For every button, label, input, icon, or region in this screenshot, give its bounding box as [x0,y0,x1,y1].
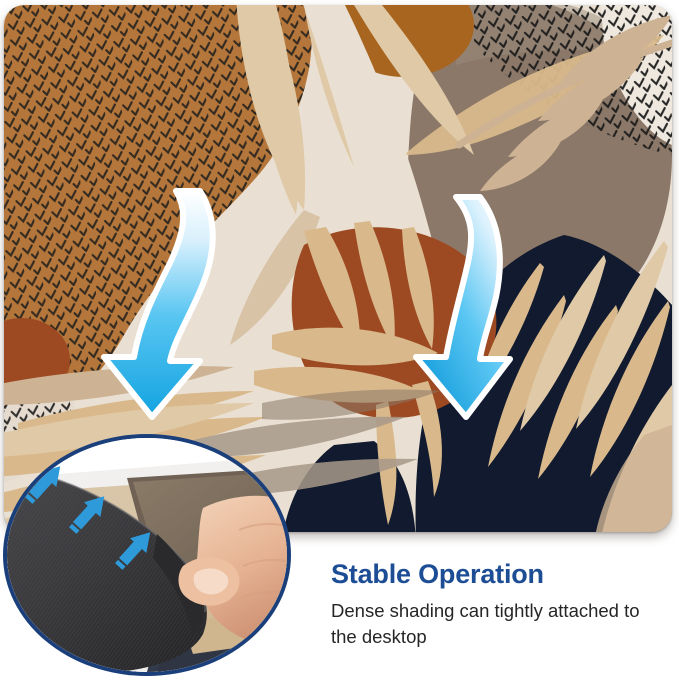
inset-photo [7,438,287,672]
caption-block: Stable Operation Dense shading can tight… [331,560,661,650]
product-image-canvas: Stable Operation Dense shading can tight… [0,0,679,680]
anti-slip-base-closeup-inset [3,434,291,676]
caption-title: Stable Operation [331,560,661,590]
caption-body: Dense shading can tightly attached to th… [331,598,661,651]
